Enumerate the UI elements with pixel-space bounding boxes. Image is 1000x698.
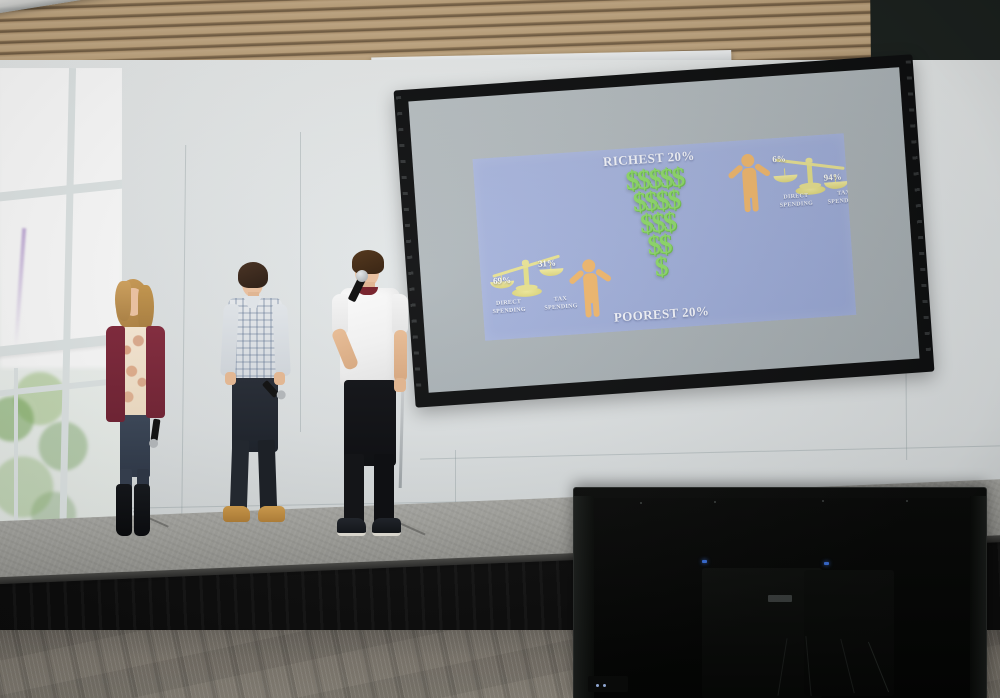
slide-title-poorest: POOREST 20% (613, 303, 709, 326)
sneaker (337, 518, 366, 536)
label-poor-direct-spending: DIRECT SPENDING (480, 297, 537, 317)
microphone-head-icon (356, 270, 368, 282)
hand-right (274, 372, 285, 385)
wall-seam (420, 445, 1000, 459)
arm-right-sleeve (392, 294, 408, 334)
monitor-foot (588, 676, 628, 692)
confidence-monitor-rear (573, 487, 987, 698)
hair-front (115, 281, 131, 321)
monitor-back-panel (592, 498, 972, 698)
presenter-1 (96, 279, 176, 541)
boot (134, 484, 150, 536)
power-led-icon (596, 684, 599, 687)
figure-icon-poorest (566, 258, 616, 315)
leg (230, 440, 250, 515)
cardigan-left (106, 326, 125, 422)
hand-right (394, 378, 406, 392)
monitor-led-icon (824, 562, 829, 565)
monitor-screw-icon (640, 502, 642, 504)
boot (116, 484, 132, 536)
monitor-bezel-right (970, 496, 986, 698)
hair (238, 262, 268, 288)
figure-icon-richest (725, 152, 775, 209)
cardigan-right (146, 326, 165, 418)
pct-label-poor-tax: 31% (538, 258, 557, 269)
wall-seam (181, 145, 186, 565)
presenter-3 (324, 250, 424, 535)
floral-blouse (121, 327, 149, 419)
leg (258, 440, 278, 515)
hand-left (225, 372, 236, 385)
stage-presentation-photo: RICHEST 20% POOREST 20% $ $ $ $ $ $ $ $ (0, 0, 1000, 698)
projection-screen: RICHEST 20% POOREST 20% $ $ $ $ $ $ $ $ (394, 54, 935, 407)
hair (352, 250, 384, 274)
leg (344, 454, 364, 528)
shoe (223, 506, 250, 522)
power-led-icon (603, 684, 606, 687)
handheld-microphone (151, 419, 161, 442)
projected-slide: RICHEST 20% POOREST 20% $ $ $ $ $ $ $ $ (473, 133, 857, 341)
arm-right (272, 304, 291, 377)
pct-label-poor-direct: 69% (493, 275, 512, 286)
monitor-screw-icon (822, 500, 824, 502)
pct-label-rich-direct: 6% (772, 153, 786, 164)
presenter-2 (212, 262, 302, 534)
screen-surface: RICHEST 20% POOREST 20% $ $ $ $ $ $ $ $ (408, 67, 919, 393)
monitor-bezel-left (574, 496, 594, 698)
jeans (120, 415, 150, 477)
sneaker (372, 518, 401, 536)
shoe (258, 506, 285, 522)
white-tshirt (340, 288, 400, 386)
monitor-screw-icon (906, 500, 908, 502)
forearm-right (394, 330, 407, 382)
mic-stand (399, 388, 405, 488)
monitor-led-icon (702, 560, 707, 563)
pct-label-rich-tax: 94% (823, 171, 842, 182)
monitor-spec-label (768, 595, 792, 602)
monitor-screw-icon (714, 501, 716, 503)
dollar-sign-icon: $ (654, 252, 669, 281)
leg (374, 454, 394, 528)
label-rich-tax-spending: TAX SPENDING (816, 187, 857, 207)
